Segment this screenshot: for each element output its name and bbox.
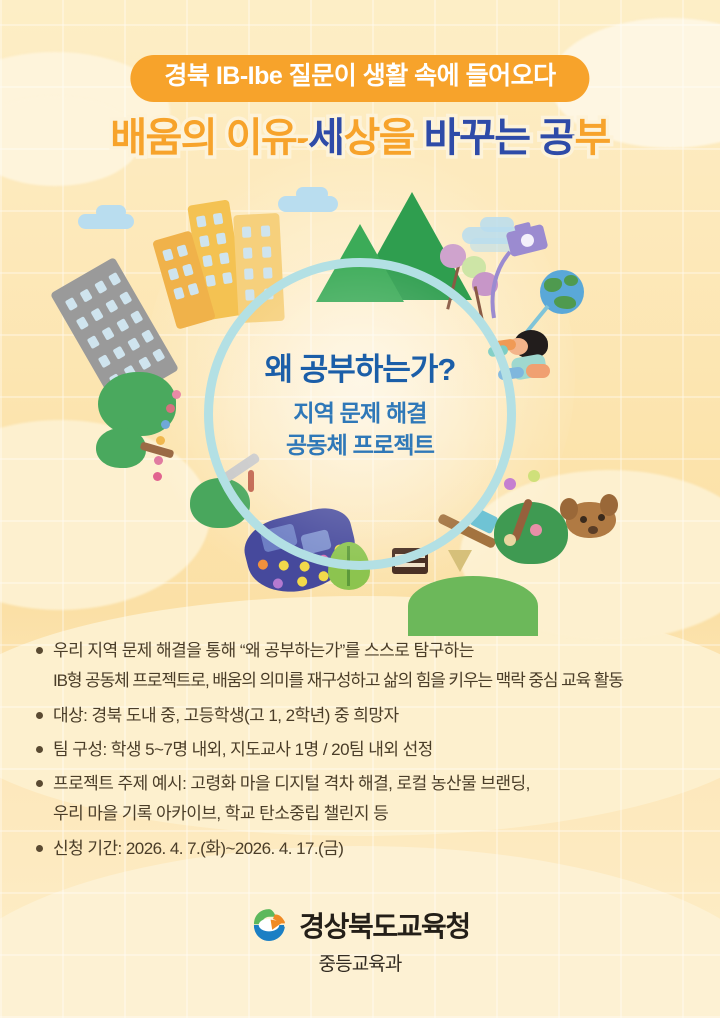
title-segment-orange-1: 배움의 이유- bbox=[110, 116, 308, 160]
list-item-line: 프로젝트 주제 예시: 고령화 마을 디지털 격차 해결, 로컬 농산물 브랜딩… bbox=[53, 769, 530, 799]
footer-organization: 경상북도교육청 bbox=[299, 905, 470, 945]
center-question: 왜 공부하는가? bbox=[0, 352, 720, 388]
list-item-line: 대상: 경북 도내 중, 고등학생(고 1, 2학년) 중 희망자 bbox=[53, 701, 399, 731]
flower-icon bbox=[504, 478, 516, 490]
list-item-line: 신청 기간: 2026. 4. 7.(화)~2026. 4. 17.(금) bbox=[53, 834, 343, 864]
list-item: 신청 기간: 2026. 4. 7.(화)~2026. 4. 17.(금) bbox=[28, 834, 692, 864]
bullet-dot-icon bbox=[36, 712, 43, 719]
list-item-line: 팀 구성: 학생 5~7명 내외, 지도교사 1명 / 20팀 내외 선정 bbox=[53, 735, 433, 765]
footer: 경상북도교육청 중등교육과 bbox=[0, 905, 720, 976]
seesaw-base-icon bbox=[448, 550, 472, 572]
hill-icon bbox=[408, 576, 538, 636]
bullet-dot-icon bbox=[36, 780, 43, 787]
flower-icon bbox=[504, 534, 516, 546]
info-list: 우리 지역 문제 해결을 통해 “왜 공부하는가”를 스스로 탐구하는 IB형 … bbox=[0, 636, 720, 868]
title-segment-blue-3: 공 bbox=[539, 116, 574, 160]
list-item: 우리 지역 문제 해결을 통해 “왜 공부하는가”를 스스로 탐구하는 IB형 … bbox=[28, 636, 692, 697]
title-segment-blue-1: 세 bbox=[308, 116, 343, 160]
list-item: 대상: 경북 도내 중, 고등학생(고 1, 2학년) 중 희망자 bbox=[28, 701, 692, 731]
dog-icon bbox=[560, 492, 624, 546]
list-item: 프로젝트 주제 예시: 고령화 마을 디지털 격차 해결, 로컬 농산물 브랜딩… bbox=[28, 769, 692, 830]
bullet-dot-icon bbox=[36, 746, 43, 753]
flower-icon bbox=[528, 470, 540, 482]
list-item: 팀 구성: 학생 5~7명 내외, 지도교사 1명 / 20팀 내외 선정 bbox=[28, 735, 692, 765]
bullet-dot-icon bbox=[36, 845, 43, 852]
gyeongbuk-education-logo-icon bbox=[250, 906, 288, 944]
center-text-block: 왜 공부하는가? 지역 문제 해결 공동체 프로젝트 bbox=[0, 352, 720, 462]
list-item-line: 우리 마을 기록 아카이브, 학교 탄소중립 챌린지 등 bbox=[53, 799, 530, 829]
header-badge: 경북 IB-Ibe 질문이 생활 속에 들어오다 bbox=[130, 55, 589, 102]
cloud-icon bbox=[296, 187, 328, 201]
title-segment-orange-2: 상을 bbox=[343, 116, 423, 160]
flower-icon bbox=[530, 524, 542, 536]
list-item-line: IB형 공동체 프로젝트로, 배움의 의미를 재구성하고 삶의 힘을 키우는 맥… bbox=[53, 666, 623, 696]
poster-canvas: 경북 IB-Ibe 질문이 생활 속에 들어오다 배움의 이유-세상을 바꾸는 … bbox=[0, 0, 720, 1018]
list-item-line: 우리 지역 문제 해결을 통해 “왜 공부하는가”를 스스로 탐구하는 bbox=[53, 636, 623, 666]
center-subtitle-line-1: 지역 문제 해결 bbox=[0, 397, 720, 430]
title-segment-blue-2: 바꾸는 bbox=[424, 116, 540, 160]
title-segment-orange-3: 부 bbox=[574, 116, 609, 160]
center-subtitle-line-2: 공동체 프로젝트 bbox=[0, 429, 720, 462]
flower-icon bbox=[153, 472, 162, 481]
cloud-icon bbox=[96, 205, 126, 219]
page-title: 배움의 이유-세상을 바꾸는 공부 bbox=[0, 113, 720, 163]
cloud-icon bbox=[480, 217, 514, 232]
bullet-dot-icon bbox=[36, 647, 43, 654]
footer-department: 중등교육과 bbox=[0, 949, 720, 976]
